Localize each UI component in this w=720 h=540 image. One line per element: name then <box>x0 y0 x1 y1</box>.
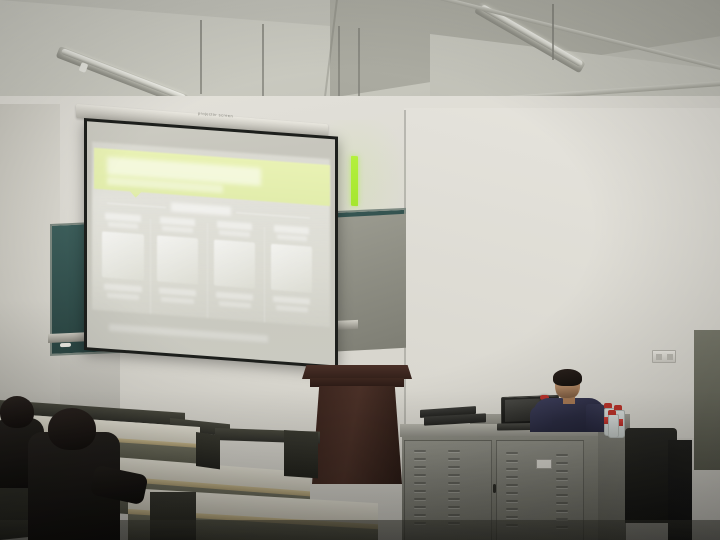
slide-column-caption <box>104 284 142 292</box>
presenter-face-shadow <box>556 386 578 398</box>
slide-column-caption <box>159 288 197 296</box>
bottle-cap-icon <box>614 405 622 410</box>
slide-column-caption <box>273 296 311 304</box>
slide-column-caption <box>216 292 254 300</box>
cabinet-label-tag <box>536 459 552 469</box>
conduit-hanger <box>200 20 202 94</box>
projection-screen-surface <box>87 121 335 365</box>
slide-column-caption2 <box>107 293 139 301</box>
presenter-shoulder <box>530 406 552 432</box>
slide-column <box>154 217 201 324</box>
slide-column-subheading <box>162 226 192 233</box>
student-front-left-head <box>48 408 96 450</box>
light-switch-plate[interactable] <box>652 350 676 363</box>
conduit-hanger <box>262 24 264 106</box>
slide-column-subheading <box>277 234 307 241</box>
slide-column-image <box>157 235 198 284</box>
conduit-hanger <box>552 4 554 60</box>
light-switch-toggle[interactable] <box>656 354 662 360</box>
light-switch-toggle[interactable] <box>667 354 673 360</box>
lectern-neck <box>310 378 404 387</box>
bench-support <box>284 430 318 478</box>
slide-column-divider <box>150 219 151 314</box>
slide-column-heading <box>160 217 196 226</box>
projection-screen[interactable] <box>84 118 338 369</box>
slide-column-image <box>271 244 312 293</box>
slide-column-subheading <box>219 230 249 237</box>
slide-column <box>211 221 258 328</box>
lecture-hall-photo: projector screen <box>0 0 720 540</box>
lectern-top <box>302 365 412 379</box>
doorway-opening <box>694 330 720 470</box>
conduit-hanger <box>338 26 340 104</box>
slide-column <box>99 213 146 320</box>
bench-support <box>196 432 220 469</box>
slide-column-heading <box>274 225 310 234</box>
wooden-lectern[interactable] <box>312 386 402 484</box>
slide-column <box>268 225 315 332</box>
chalkboard-right-panel <box>326 214 406 352</box>
bottle-cap-icon <box>604 403 612 408</box>
slide-column-subheading <box>108 222 138 229</box>
chalk-piece[interactable] <box>60 343 71 347</box>
slide-column-divider <box>207 223 208 318</box>
slide-column-image <box>214 240 255 289</box>
conduit-hanger <box>358 28 360 102</box>
slide-column-image <box>102 231 143 280</box>
slide-column-caption2 <box>161 297 193 305</box>
slide-column-caption2 <box>276 305 308 313</box>
slide-column-caption2 <box>219 301 251 309</box>
presenter-hair <box>553 369 582 386</box>
student-back-left-head <box>0 396 34 428</box>
slide-column-heading <box>105 213 141 222</box>
slide-column-heading <box>217 221 253 230</box>
slide-column-divider <box>264 227 265 322</box>
projector-overspill-strip <box>351 156 358 206</box>
water-bottle[interactable] <box>608 414 619 438</box>
cabinet-lock-handle[interactable] <box>493 484 496 493</box>
bottle-cap-icon <box>608 410 616 415</box>
